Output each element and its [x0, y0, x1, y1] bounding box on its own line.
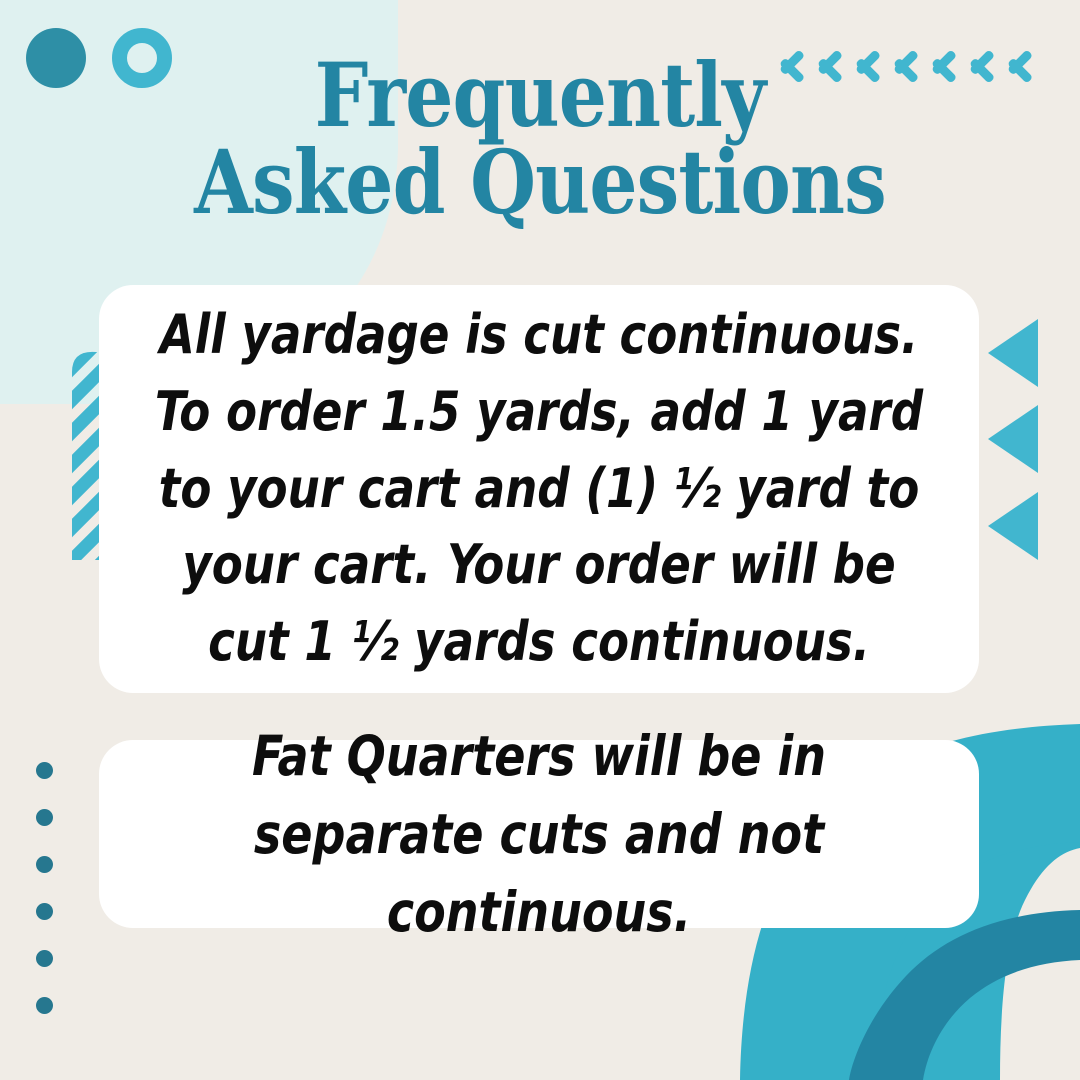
triangle-left-icon: [988, 492, 1038, 560]
dot-icon: [36, 997, 53, 1014]
triangle-left-icon: [988, 319, 1038, 387]
chevron-left-icon: [1026, 38, 1056, 86]
dot-icon: [36, 950, 53, 967]
dot-icon: [36, 809, 53, 826]
chevron-row: [798, 38, 1056, 86]
outline-circle-icon: [112, 28, 172, 88]
faq-card-2-text: Fat Quarters will be in separate cuts an…: [154, 717, 924, 951]
faq-card-1-text: All yardage is cut continuous. To order …: [154, 297, 924, 680]
filled-circle-icon: [26, 28, 86, 88]
triangle-left-icon: [988, 405, 1038, 473]
dot-icon: [36, 903, 53, 920]
dot-column: [36, 762, 53, 1014]
faq-card-1: All yardage is cut continuous. To order …: [99, 285, 979, 693]
dot-icon: [36, 762, 53, 779]
faq-poster: Frequently Asked Questions All yardage i…: [0, 0, 1080, 1080]
dot-icon: [36, 856, 53, 873]
faq-card-2: Fat Quarters will be in separate cuts an…: [99, 740, 979, 928]
